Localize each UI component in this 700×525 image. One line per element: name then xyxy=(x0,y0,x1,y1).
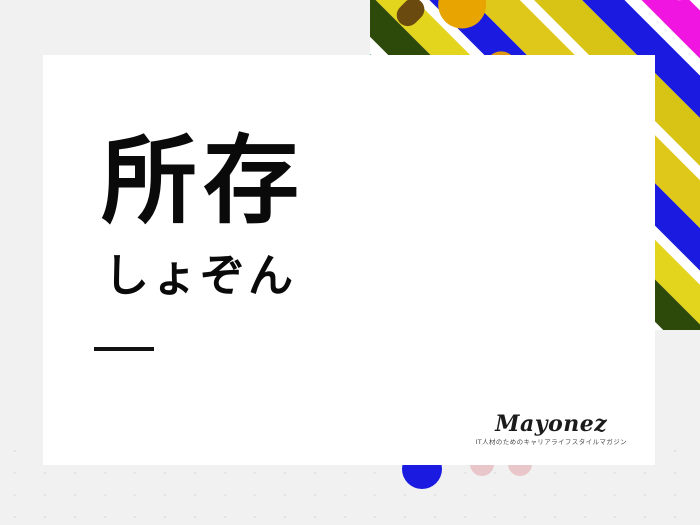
brand-lockup: Mayonez IT人材のためのキャリアライフスタイルマガジン xyxy=(475,413,627,447)
brand-tagline: IT人材のためのキャリアライフスタイルマガジン xyxy=(475,439,627,447)
word-card: 所存 しょぞん Mayonez IT人材のためのキャリアライフスタイルマガジン xyxy=(43,55,655,465)
brand-name: Mayonez xyxy=(475,413,627,436)
headword-kanji: 所存 xyxy=(101,133,305,229)
headword-reading-hiragana: しょぞん xyxy=(104,253,296,298)
word-card-inner: 所存 しょぞん Mayonez IT人材のためのキャリアライフスタイルマガジン xyxy=(43,55,655,465)
page-root: 所存 しょぞん Mayonez IT人材のためのキャリアライフスタイルマガジン xyxy=(0,0,700,525)
divider-rule xyxy=(94,347,154,351)
